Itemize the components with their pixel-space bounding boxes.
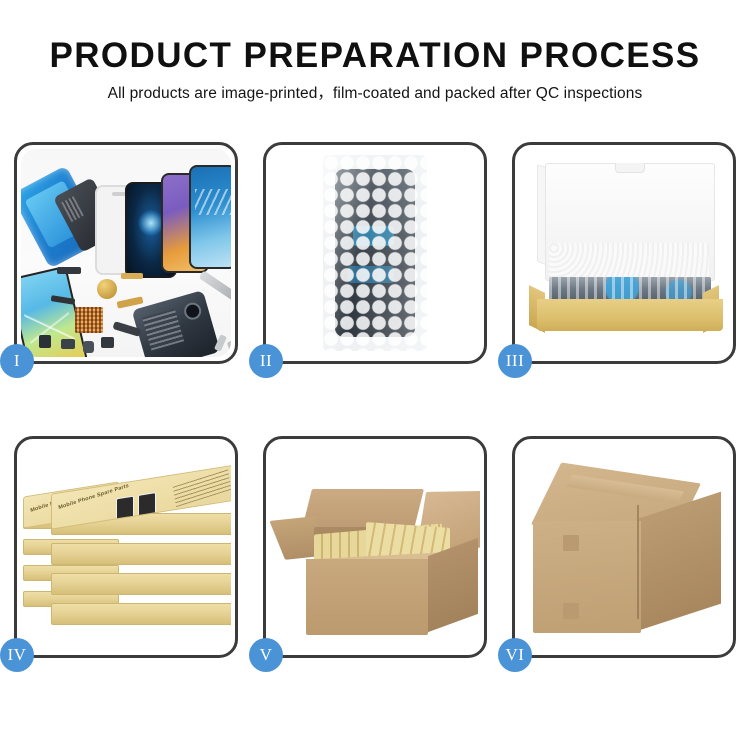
product-preparation-infographic: PRODUCT PREPARATION PROCESS All products… xyxy=(0,0,750,750)
step-badge-3: III xyxy=(498,344,532,378)
step-panel-1: I xyxy=(14,142,238,364)
step-panel-5: V xyxy=(263,436,487,658)
box-spec-lines xyxy=(173,468,231,507)
box-stack-front: Mobile Phone Spare Parts xyxy=(51,471,231,647)
page-title: PRODUCT PREPARATION PROCESS xyxy=(0,0,750,73)
step-badge-5: V xyxy=(249,638,283,672)
bubble-wrap-bag xyxy=(323,155,427,351)
step-badge-6: VI xyxy=(498,638,532,672)
stacked-box xyxy=(51,543,231,565)
step-panel-6: VI xyxy=(512,436,736,658)
chip-grid-part-icon xyxy=(75,307,103,333)
box-front-panel xyxy=(537,299,723,331)
copper-coil-part-icon xyxy=(97,279,117,299)
step-badge-4: IV xyxy=(0,638,34,672)
box-phone-graphic xyxy=(116,496,134,521)
steps-grid: I II xyxy=(14,142,736,658)
phone-housing-internals-icon xyxy=(132,290,221,357)
screw-part-icon xyxy=(227,340,231,356)
step-badge-2: II xyxy=(249,344,283,378)
step-panel-2: II xyxy=(263,142,487,364)
step-image-box-stack: Mobile Phone Spare Parts Mobile Phone Sp… xyxy=(21,443,231,651)
carton-front-panel xyxy=(533,521,641,633)
flex-cable-gold-part-icon xyxy=(117,296,144,308)
step-image-inner-box xyxy=(519,149,729,357)
step-image-carton-loading xyxy=(270,443,480,651)
camera-module-part-icon xyxy=(39,335,51,348)
carton-front-panel xyxy=(306,559,428,635)
carton-edge-seam xyxy=(637,505,639,620)
vibrator-part-icon xyxy=(83,341,94,353)
step-image-products xyxy=(21,149,231,357)
step-badge-1: I xyxy=(0,344,34,378)
page-subtitle: All products are image-printed，film-coat… xyxy=(0,73,750,102)
stacked-box xyxy=(51,603,231,625)
header: PRODUCT PREPARATION PROCESS All products… xyxy=(0,0,750,102)
carton-tab-upper xyxy=(563,535,579,551)
step-panel-3: III xyxy=(512,142,736,364)
step-panel-4: Mobile Phone Spare Parts Mobile Phone Sp… xyxy=(14,436,238,658)
phone-display-wave-icon xyxy=(189,165,231,269)
box-phone-graphic xyxy=(138,492,156,517)
connector-strip-part-icon xyxy=(121,273,143,279)
sim-tray-part-icon xyxy=(101,337,114,348)
step-image-sealed-carton xyxy=(519,443,729,651)
stacked-box xyxy=(51,573,231,595)
speaker-part-icon xyxy=(57,267,81,274)
carton-side-panel xyxy=(428,538,478,632)
step-image-bubble-wrap xyxy=(270,149,480,357)
plastic-sheen xyxy=(323,155,427,351)
button-part-icon xyxy=(61,339,75,349)
carton-tab-lower xyxy=(563,603,579,619)
